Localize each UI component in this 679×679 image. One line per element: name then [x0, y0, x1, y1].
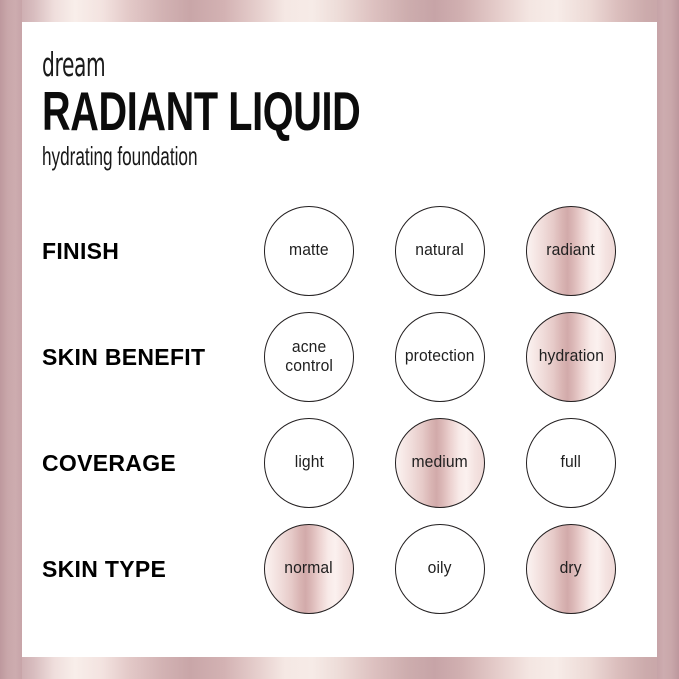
- product-infographic-frame: dream RADIANT LIQUID hydrating foundatio…: [0, 0, 679, 679]
- attribute-option-circle[interactable]: light: [264, 418, 354, 508]
- attribute-option-circle[interactable]: protection: [395, 312, 485, 402]
- attribute-row-label: FINISH: [22, 238, 254, 265]
- attribute-option-circle[interactable]: dry: [526, 524, 616, 614]
- brand-block: dream RADIANT LIQUID hydrating foundatio…: [42, 48, 484, 169]
- attribute-option-circle[interactable]: hydration: [526, 312, 616, 402]
- attribute-option-label: acnecontrol: [285, 338, 333, 377]
- attribute-matrix: FINISHmattenaturalradiantSKIN BENEFITacn…: [22, 198, 657, 622]
- attribute-options: lightmediumfull: [254, 410, 657, 516]
- attribute-row: SKIN TYPEnormaloilydry: [22, 516, 657, 622]
- attribute-option-circle[interactable]: matte: [264, 206, 354, 296]
- attribute-option-circle[interactable]: natural: [395, 206, 485, 296]
- attribute-options: acnecontrolprotectionhydration: [254, 304, 657, 410]
- attribute-option-label: light: [294, 453, 323, 472]
- attribute-option-circle[interactable]: radiant: [526, 206, 616, 296]
- attribute-option-circle[interactable]: oily: [395, 524, 485, 614]
- attribute-options: normaloilydry: [254, 516, 657, 622]
- attribute-row-label: COVERAGE: [22, 450, 254, 477]
- attribute-option-circle[interactable]: normal: [264, 524, 354, 614]
- frame-right-rail: [657, 0, 679, 679]
- attribute-options: mattenaturalradiant: [254, 198, 657, 304]
- attribute-option-label: medium: [412, 453, 468, 472]
- attribute-option-label: oily: [428, 559, 452, 578]
- attribute-option-label: matte: [289, 241, 329, 260]
- attribute-option-label: normal: [285, 559, 333, 578]
- attribute-option-circle[interactable]: full: [526, 418, 616, 508]
- infographic-card: dream RADIANT LIQUID hydrating foundatio…: [22, 22, 657, 657]
- attribute-option-label: hydration: [538, 347, 603, 366]
- product-name: RADIANT LIQUID: [42, 83, 360, 139]
- attribute-option-circle[interactable]: medium: [395, 418, 485, 508]
- attribute-row: COVERAGElightmediumfull: [22, 410, 657, 516]
- attribute-option-circle[interactable]: acnecontrol: [264, 312, 354, 402]
- attribute-row-label: SKIN TYPE: [22, 556, 254, 583]
- frame-left-rail: [0, 0, 22, 679]
- attribute-option-label: full: [561, 453, 581, 472]
- attribute-option-label: natural: [416, 241, 465, 260]
- attribute-row: SKIN BENEFITacnecontrolprotectionhydrati…: [22, 304, 657, 410]
- brand-line: dream: [42, 48, 343, 81]
- attribute-option-label: protection: [405, 347, 475, 366]
- product-descriptor: hydrating foundation: [42, 143, 334, 169]
- attribute-option-label: dry: [560, 559, 582, 578]
- attribute-option-label: radiant: [547, 241, 596, 260]
- attribute-row: FINISHmattenaturalradiant: [22, 198, 657, 304]
- attribute-row-label: SKIN BENEFIT: [22, 344, 254, 371]
